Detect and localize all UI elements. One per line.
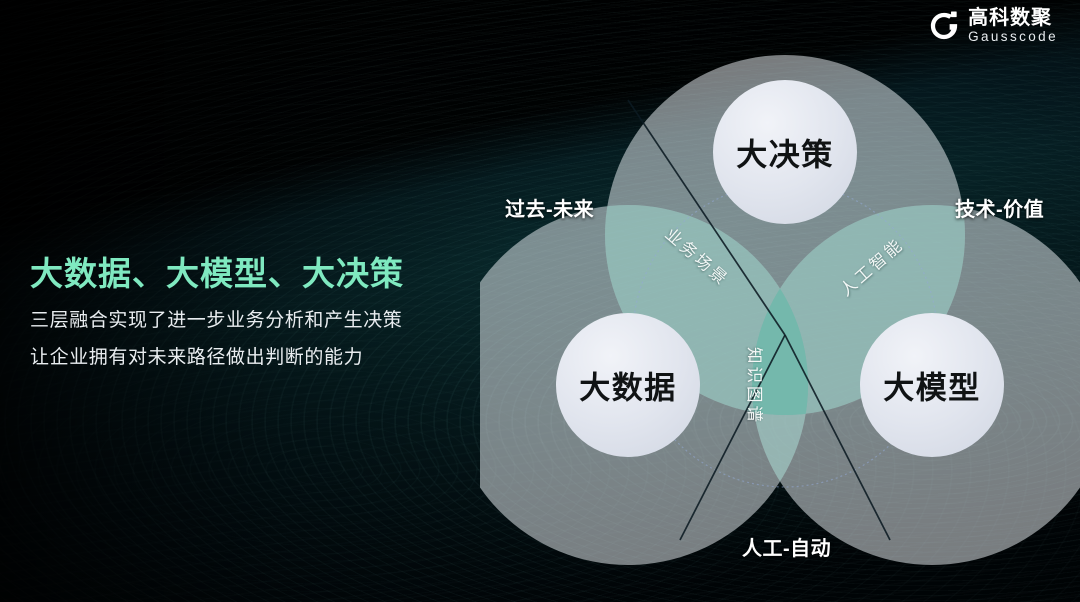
venn-diagram	[480, 0, 1080, 602]
left-copy-block: 大数据、大模型、大决策 三层融合实现了进一步业务分析和产生决策 让企业拥有对未来…	[30, 255, 450, 368]
venn-label-bigdata: 大数据	[579, 363, 677, 408]
venn-label-model: 大模型	[883, 363, 981, 408]
subtitle-line-2: 让企业拥有对未来路径做出判断的能力	[30, 348, 450, 368]
venn-label-decision: 大决策	[736, 130, 834, 175]
page-title: 大数据、大模型、大决策	[30, 255, 450, 293]
axis-label-right: 技术-价值	[955, 193, 1044, 222]
venn-svg	[480, 0, 1080, 602]
axis-label-left: 过去-未来	[505, 193, 594, 222]
axis-label-bottom: 人工-自动	[742, 532, 831, 561]
subtitle-line-1: 三层融合实现了进一步业务分析和产生决策	[30, 311, 450, 331]
slide-root: 高科数聚 Gausscode 大数据、大模型、大决策 三层融合实现了进一步业务分…	[0, 0, 1080, 602]
venn-label-knowledge-graph: 知识图谱	[744, 347, 768, 425]
